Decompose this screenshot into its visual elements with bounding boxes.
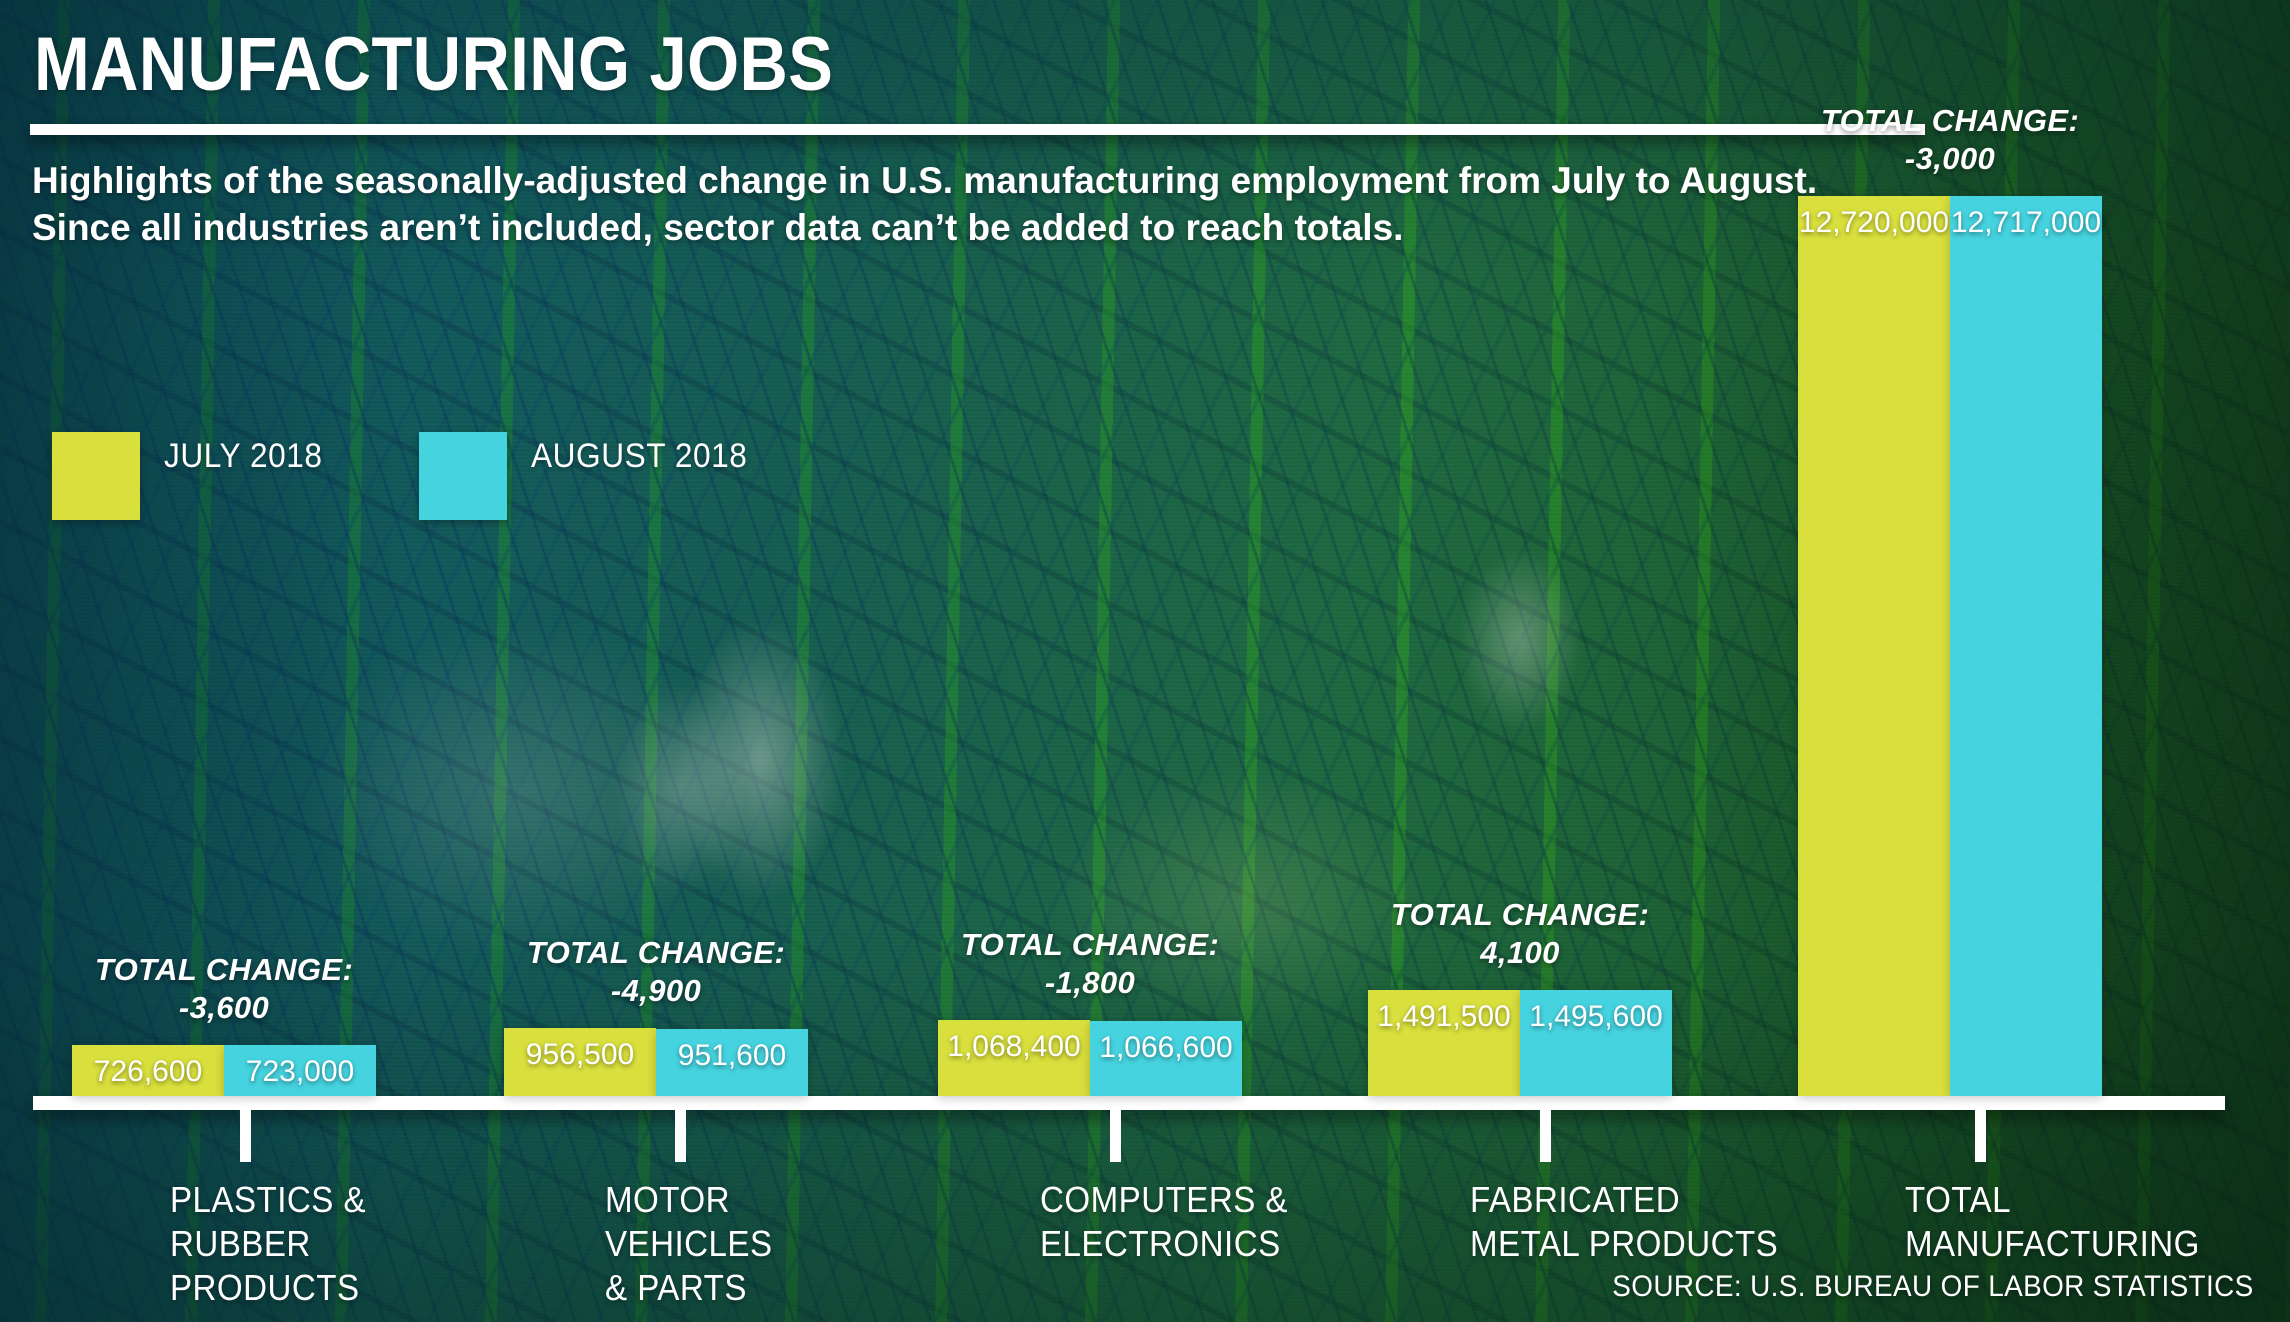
total-change-label: TOTAL CHANGE: bbox=[1821, 102, 2079, 140]
total-change-label: TOTAL CHANGE: bbox=[95, 951, 353, 989]
x-axis-category-label: COMPUTERS & ELECTRONICS bbox=[1040, 1178, 1288, 1266]
bar-august[interactable]: 1,066,600 bbox=[1090, 1021, 1242, 1096]
bar-august[interactable]: 1,495,600 bbox=[1520, 990, 1672, 1096]
bar-july[interactable]: 726,600 bbox=[72, 1045, 224, 1096]
x-axis-category-label: MOTOR VEHICLES & PARTS bbox=[605, 1178, 773, 1310]
x-axis-tick bbox=[675, 1110, 686, 1162]
bar-value-label: 1,066,600 bbox=[1090, 1031, 1242, 1065]
bar-pair: 956,500951,600 bbox=[504, 1028, 808, 1096]
total-change-label: TOTAL CHANGE: bbox=[961, 926, 1219, 964]
bar-value-label: 726,600 bbox=[72, 1055, 224, 1089]
bar-group: TOTAL CHANGE:-3,00012,720,00012,717,000 bbox=[1798, 196, 2102, 1096]
bar-pair: 1,491,5001,495,600 bbox=[1368, 990, 1672, 1096]
bar-chart: TOTAL CHANGE:-3,600726,600723,000PLASTIC… bbox=[0, 0, 2290, 1322]
bar-group: TOTAL CHANGE:-1,8001,068,4001,066,600 bbox=[938, 1020, 1242, 1096]
bar-value-label: 723,000 bbox=[224, 1055, 376, 1089]
bar-july[interactable]: 956,500 bbox=[504, 1028, 656, 1096]
x-axis-category-label: PLASTICS & RUBBER PRODUCTS bbox=[170, 1178, 366, 1310]
bar-pair: 12,720,00012,717,000 bbox=[1798, 196, 2102, 1096]
bar-value-label: 12,717,000 bbox=[1950, 206, 2102, 240]
bar-august[interactable]: 12,717,000 bbox=[1950, 196, 2102, 1096]
x-axis-category-label: TOTAL MANUFACTURING bbox=[1905, 1178, 2200, 1266]
bar-pair: 1,068,4001,066,600 bbox=[938, 1020, 1242, 1096]
x-axis-line bbox=[33, 1096, 2225, 1110]
total-change-value: -3,000 bbox=[1821, 140, 2079, 178]
total-change-value: -4,900 bbox=[527, 972, 785, 1010]
total-change-annotation: TOTAL CHANGE:-1,800 bbox=[961, 926, 1219, 1002]
x-axis-tick bbox=[240, 1110, 251, 1162]
total-change-value: 4,100 bbox=[1391, 934, 1649, 972]
total-change-value: -3,600 bbox=[95, 989, 353, 1027]
bar-value-label: 951,600 bbox=[656, 1039, 808, 1073]
bar-value-label: 12,720,000 bbox=[1798, 206, 1950, 240]
bar-august[interactable]: 951,600 bbox=[656, 1029, 808, 1096]
infographic-root: MANUFACTURING JOBS Highlights of the sea… bbox=[0, 0, 2290, 1322]
x-axis-tick bbox=[1540, 1110, 1551, 1162]
total-change-annotation: TOTAL CHANGE:-3,000 bbox=[1821, 102, 2079, 178]
bar-value-label: 956,500 bbox=[504, 1038, 656, 1072]
bar-group: TOTAL CHANGE:-4,900956,500951,600 bbox=[504, 1028, 808, 1096]
source-attribution: SOURCE: U.S. BUREAU OF LABOR STATISTICS bbox=[1613, 1270, 2254, 1304]
bar-july[interactable]: 1,491,500 bbox=[1368, 990, 1520, 1096]
total-change-annotation: TOTAL CHANGE:4,100 bbox=[1391, 896, 1649, 972]
bar-group: TOTAL CHANGE:-3,600726,600723,000 bbox=[72, 1045, 376, 1096]
bar-value-label: 1,495,600 bbox=[1520, 1000, 1672, 1034]
total-change-annotation: TOTAL CHANGE:-3,600 bbox=[95, 951, 353, 1027]
total-change-annotation: TOTAL CHANGE:-4,900 bbox=[527, 934, 785, 1010]
total-change-value: -1,800 bbox=[961, 964, 1219, 1002]
bar-value-label: 1,068,400 bbox=[938, 1030, 1090, 1064]
bar-group: TOTAL CHANGE:4,1001,491,5001,495,600 bbox=[1368, 990, 1672, 1096]
bar-july[interactable]: 12,720,000 bbox=[1798, 196, 1950, 1096]
total-change-label: TOTAL CHANGE: bbox=[1391, 896, 1649, 934]
x-axis-category-label: FABRICATED METAL PRODUCTS bbox=[1470, 1178, 1778, 1266]
x-axis-tick bbox=[1110, 1110, 1121, 1162]
bar-value-label: 1,491,500 bbox=[1368, 1000, 1520, 1034]
bar-august[interactable]: 723,000 bbox=[224, 1045, 376, 1096]
x-axis-tick bbox=[1975, 1110, 1986, 1162]
total-change-label: TOTAL CHANGE: bbox=[527, 934, 785, 972]
bar-pair: 726,600723,000 bbox=[72, 1045, 376, 1096]
bar-july[interactable]: 1,068,400 bbox=[938, 1020, 1090, 1096]
